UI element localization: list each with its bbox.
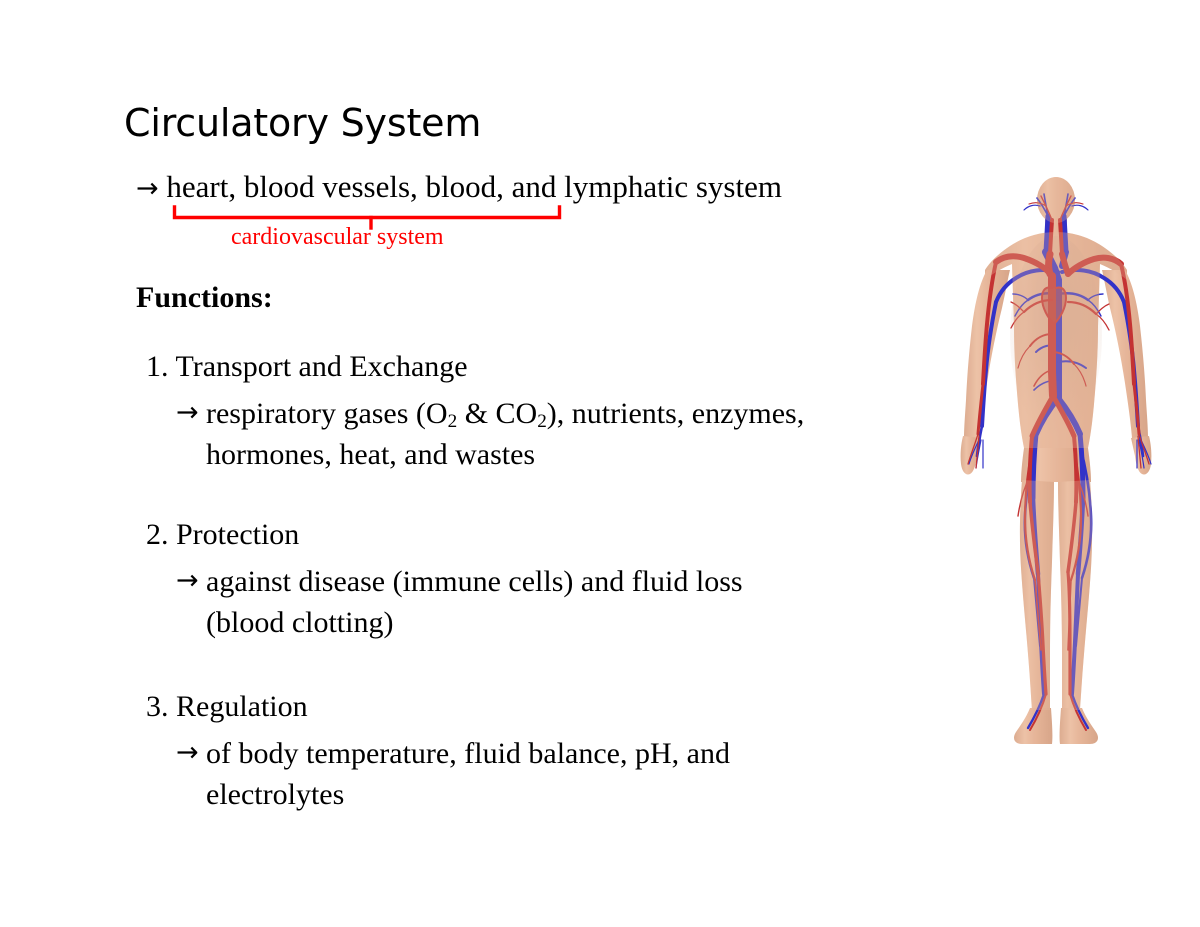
function-title-3: 3. Regulation xyxy=(146,690,886,725)
bracket-caption: cardiovascular system xyxy=(231,224,444,250)
function-title-2: 2. Protection xyxy=(146,518,886,553)
function-detail-text-2: against disease (immune cells) and fluid… xyxy=(176,562,826,644)
functions-heading: Functions: xyxy=(136,281,273,315)
page-title: Circulatory System xyxy=(124,104,481,144)
function-detail-1: → respiratory gases (O2 & CO2), nutrient… xyxy=(146,394,886,476)
function-item-3: 3. Regulation → of body temperature, flu… xyxy=(146,690,886,815)
function-item-2: 2. Protection → against disease (immune … xyxy=(146,518,886,643)
arrow-right-icon: → xyxy=(136,173,159,204)
definition-line: → heart, blood vessels, blood, and lymph… xyxy=(136,170,782,205)
function-detail-2: → against disease (immune cells) and flu… xyxy=(146,562,886,644)
detail-part-before: respiratory gases (O xyxy=(206,397,448,430)
definition-text: heart, blood vessels, blood, and lymphat… xyxy=(166,169,782,204)
arrow-right-icon: → xyxy=(176,395,199,432)
arrow-right-icon: → xyxy=(176,563,199,600)
detail-part-middle: & CO xyxy=(457,397,537,430)
slide-canvas: Circulatory System → heart, blood vessel… xyxy=(0,0,1200,927)
function-title-1: 1. Transport and Exchange xyxy=(146,350,886,385)
subscript-o2: 2 xyxy=(448,411,458,432)
function-detail-text-3: of body temperature, fluid balance, pH, … xyxy=(176,734,856,816)
subscript-co2: 2 xyxy=(537,411,547,432)
function-item-1: 1. Transport and Exchange → respiratory … xyxy=(146,350,886,475)
circulatory-system-figure xyxy=(958,176,1154,772)
function-detail-text-1: respiratory gases (O2 & CO2), nutrients,… xyxy=(176,394,866,476)
function-detail-3: → of body temperature, fluid balance, pH… xyxy=(146,734,886,816)
arrow-right-icon: → xyxy=(176,735,199,772)
